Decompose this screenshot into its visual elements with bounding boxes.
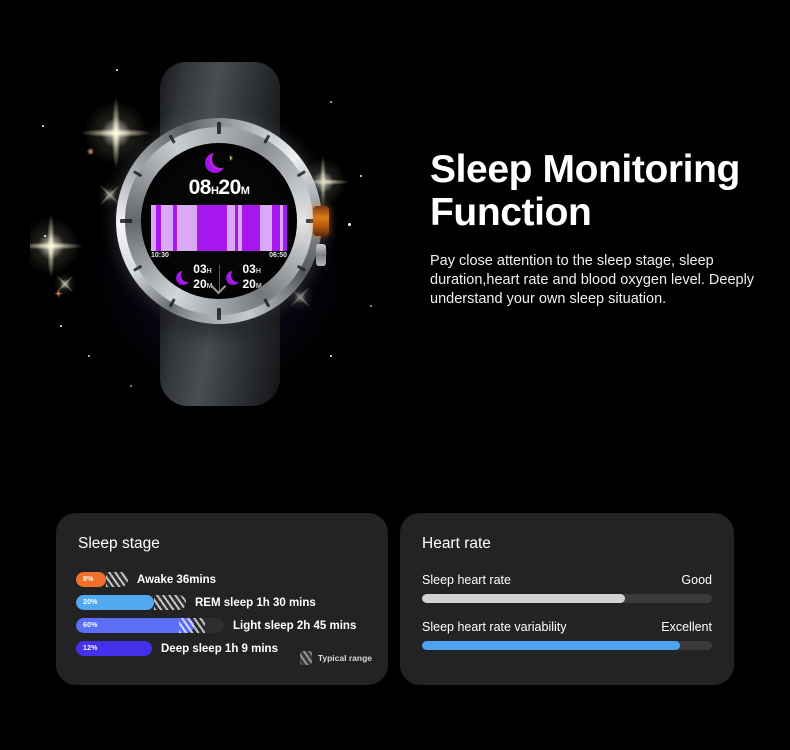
- total-sleep-readout: 08H20M: [141, 176, 297, 200]
- hero-section: 08H20M 10:30 06:50 03H 20M: [0, 0, 790, 500]
- heart-rate-title: Heart rate: [422, 535, 491, 553]
- sub-stat-2-hours: 03H: [243, 263, 262, 278]
- hypnogram-segment: [197, 205, 227, 251]
- heart-rate-fill: [422, 641, 680, 650]
- sub-stat-2: 03H 20M: [226, 263, 262, 293]
- star-dot: [330, 355, 332, 357]
- heart-rate-metric-label: Sleep heart rate variability: [422, 620, 567, 634]
- crescent-moon-icon: [226, 271, 240, 285]
- sub-stat-1-minutes: 20M: [193, 278, 212, 293]
- typical-range-legend: Typical range: [300, 651, 372, 665]
- sub-stat-1: 03H 20M: [176, 263, 212, 293]
- hypnogram-segment: [283, 205, 287, 251]
- sleep-stage-percent: 12%: [76, 645, 98, 652]
- star-dot: [348, 223, 351, 226]
- heart-rate-row: Sleep heart rate variabilityExcellent: [422, 620, 712, 650]
- watch-side-button[interactable]: [316, 244, 326, 266]
- orange-star-icon: [86, 147, 95, 156]
- watch-case: 08H20M 10:30 06:50 03H 20M: [116, 118, 322, 324]
- cards-section: Sleep stage 8%Awake 36mins20%REM sleep 1…: [0, 505, 790, 695]
- star-dot: [370, 305, 372, 307]
- minutes-unit: M: [241, 185, 250, 197]
- screen-moon-row: [141, 153, 297, 175]
- sleep-start-time: 10:30: [151, 252, 169, 259]
- sleep-stage-percent: 60%: [76, 622, 98, 629]
- heart-rate-card: Heart rate Sleep heart rateGoodSleep hea…: [400, 513, 734, 685]
- sleep-stage-row: 8%Awake 36mins: [76, 568, 374, 591]
- hero-description: Pay close attention to the sleep stage, …: [430, 252, 770, 309]
- hypnogram-chart: [151, 205, 287, 251]
- typical-range-hatch: [106, 572, 128, 587]
- sleep-stage-bar: 20%: [76, 595, 186, 610]
- orange-star-icon: [52, 287, 65, 300]
- sleep-stage-bar: 12%: [76, 641, 152, 656]
- heart-rate-fill: [422, 594, 625, 603]
- page-root: 08H20M 10:30 06:50 03H 20M: [0, 0, 790, 750]
- total-sleep-minutes: 20: [218, 176, 240, 199]
- sleep-stage-label: Light sleep 2h 45 mins: [233, 620, 356, 632]
- watch-crown-button[interactable]: [313, 206, 329, 236]
- sub-stat-1-hours: 03H: [193, 263, 212, 278]
- hypnogram-segment: [227, 205, 235, 251]
- star-dot: [330, 101, 332, 103]
- sleep-stage-card: Sleep stage 8%Awake 36mins20%REM sleep 1…: [56, 513, 388, 685]
- hypnogram-segment: [177, 205, 197, 251]
- typical-range-hatch: [179, 618, 205, 633]
- hypnogram-time-labels: 10:30 06:50: [151, 252, 287, 259]
- heart-rate-row: Sleep heart rateGood: [422, 573, 712, 603]
- sub-stat-2-minutes: 20M: [243, 278, 262, 293]
- sleep-stage-percent: 20%: [76, 599, 98, 606]
- sleep-stage-bar: 60%: [76, 618, 224, 633]
- sleep-stage-bar: 8%: [76, 572, 128, 587]
- crescent-moon-icon: [205, 153, 225, 173]
- page-title: Sleep Monitoring Function: [430, 148, 770, 234]
- smartwatch: 08H20M 10:30 06:50 03H 20M: [108, 62, 330, 402]
- sleep-stage-percent: 8%: [76, 576, 94, 583]
- heart-rate-metric-label: Sleep heart rate: [422, 573, 511, 587]
- heart-rate-list: Sleep heart rateGoodSleep heart rate var…: [422, 573, 712, 667]
- sleep-stage-list: 8%Awake 36mins20%REM sleep 1h 30 mins60%…: [76, 568, 374, 660]
- star-dot: [42, 125, 44, 127]
- hatched-swatch-icon: [300, 651, 312, 665]
- hypnogram-segment: [260, 205, 272, 251]
- star-dot: [88, 355, 90, 357]
- sleep-stage-label: Awake 36mins: [137, 574, 216, 586]
- sleep-stage-row: 60%Light sleep 2h 45 mins: [76, 614, 374, 637]
- typical-range-label: Typical range: [318, 653, 372, 663]
- hero-copy: Sleep Monitoring Function Pay close atte…: [430, 148, 770, 309]
- hypnogram-segment: [242, 205, 260, 251]
- star-dot: [360, 175, 362, 177]
- sleep-stage-label: Deep sleep 1h 9 mins: [161, 643, 278, 655]
- hypnogram-segment: [272, 205, 280, 251]
- watch-screen[interactable]: 08H20M 10:30 06:50 03H 20M: [141, 143, 297, 299]
- star-dot: [60, 325, 62, 327]
- heart-rate-track: [422, 641, 712, 650]
- sleep-stage-title: Sleep stage: [78, 535, 160, 553]
- hypnogram-segment: [161, 205, 173, 251]
- star-dot: [44, 235, 46, 237]
- heart-rate-metric-value: Excellent: [661, 620, 712, 634]
- heart-rate-track: [422, 594, 712, 603]
- typical-range-hatch: [154, 595, 186, 610]
- total-sleep-hours: 08: [189, 176, 211, 199]
- sleep-end-time: 06:50: [269, 252, 287, 259]
- sleep-stage-row: 20%REM sleep 1h 30 mins: [76, 591, 374, 614]
- sleep-stage-label: REM sleep 1h 30 mins: [195, 597, 316, 609]
- heart-rate-metric-value: Good: [681, 573, 712, 587]
- crescent-moon-icon: [176, 271, 190, 285]
